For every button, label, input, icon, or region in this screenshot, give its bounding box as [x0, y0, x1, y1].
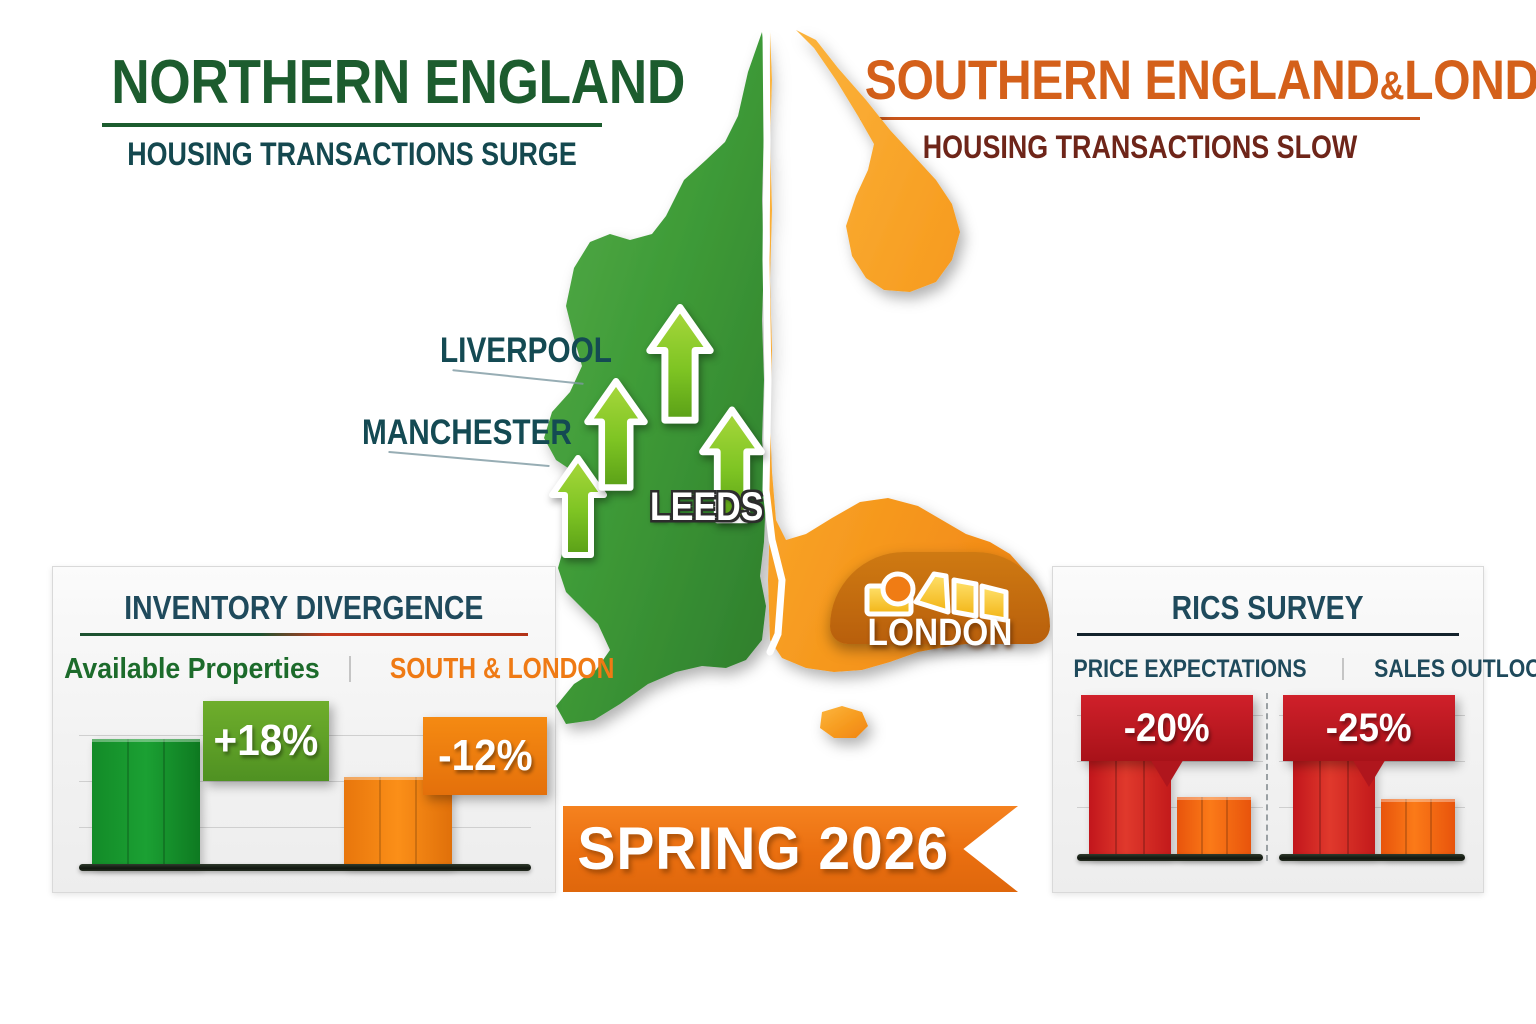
bar-segment-divider	[1430, 799, 1432, 857]
rics-sub-labels: PRICE EXPECTATIONS SALES OUTLOOK	[1053, 657, 1483, 682]
city-label-leeds: LEEDS	[650, 487, 763, 527]
sub-label-sales-outlook: SALES OUTLOOK	[1374, 657, 1536, 682]
callout-value-sales-outlook: -25%	[1326, 708, 1412, 748]
inventory-panel-divider	[80, 633, 528, 636]
bar-price-expectations-forecast	[1177, 797, 1251, 857]
inventory-legend: Available Properties SOUTH & LONDON	[53, 655, 555, 684]
bar-segment-divider	[415, 777, 417, 867]
rics-subchart-divider	[1266, 693, 1268, 861]
sub-label-price-expectations: PRICE EXPECTATIONS	[1074, 657, 1307, 682]
southern-title-part-b: LONDON	[1404, 48, 1536, 111]
callout-pointer	[1353, 761, 1384, 787]
callout-inventory-north: +18%	[203, 701, 329, 781]
city-label-manchester: MANCHESTER	[362, 415, 572, 450]
inventory-divergence-title-text: INVENTORY DIVERGENCE	[124, 591, 483, 624]
bar-segment-divider	[1143, 751, 1145, 857]
rics-survey-title: RICS SURVEY	[1053, 591, 1483, 624]
rics-survey-title-text: RICS SURVEY	[1172, 591, 1364, 624]
chart-baseline-axis	[1279, 854, 1465, 861]
london-map-marker[interactable]: LONDON	[820, 552, 1060, 672]
bar-available-properties	[92, 739, 200, 867]
chart-baseline-axis	[1077, 854, 1263, 861]
callout-value-south: -12%	[438, 734, 533, 778]
ampersand-glyph: &	[1380, 64, 1404, 108]
callout-inventory-south: -12%	[423, 717, 547, 795]
inventory-divergence-panel: INVENTORY DIVERGENCE Available Propertie…	[52, 566, 556, 893]
bar-segment-divider	[1405, 799, 1407, 857]
season-banner-label: SPRING 2026	[573, 819, 953, 879]
city-label-liverpool: LIVERPOOL	[440, 333, 612, 368]
bar-segment-divider	[1226, 797, 1228, 857]
map-isle-of-wight	[820, 706, 868, 738]
bar-highlight	[1381, 799, 1455, 802]
callout-sales-outlook: -25%	[1283, 695, 1455, 761]
bar-segment-divider	[1115, 751, 1117, 857]
legend-item-available-properties: Available Properties	[64, 655, 320, 684]
inventory-divergence-title: INVENTORY DIVERGENCE	[53, 591, 555, 624]
bar-segment-divider	[1319, 747, 1321, 857]
chart-baseline-axis	[79, 864, 531, 871]
callout-price-expectations: -20%	[1081, 695, 1253, 761]
rics-survey-panel: RICS SURVEY PRICE EXPECTATIONS SALES OUT…	[1052, 566, 1484, 893]
callout-value-price-expectations: -20%	[1124, 708, 1210, 748]
rics-panel-divider	[1077, 633, 1459, 636]
bar-segment-divider	[1201, 797, 1203, 857]
london-marker-label: LONDON	[834, 614, 1045, 652]
bar-segment-divider	[1347, 747, 1349, 857]
map-region-divider-seam	[766, 32, 782, 652]
bar-highlight	[92, 739, 200, 742]
callout-pointer	[1151, 761, 1182, 787]
bar-sales-outlook-forecast	[1381, 799, 1455, 857]
legend-separator	[349, 656, 351, 682]
sub-label-separator	[1342, 658, 1344, 680]
bar-segment-divider	[379, 777, 381, 867]
bar-highlight	[1177, 797, 1251, 800]
growth-arrow-liverpool	[583, 378, 649, 493]
infographic-canvas: NORTHERN ENGLAND HOUSING TRANSACTIONS SU…	[0, 0, 1536, 1024]
callout-value-north: +18%	[214, 719, 319, 763]
season-banner: SPRING 2026	[563, 806, 1018, 892]
bar-segment-divider	[163, 739, 165, 867]
legend-item-south-and-london: SOUTH & LONDON	[389, 655, 614, 684]
bar-segment-divider	[127, 739, 129, 867]
